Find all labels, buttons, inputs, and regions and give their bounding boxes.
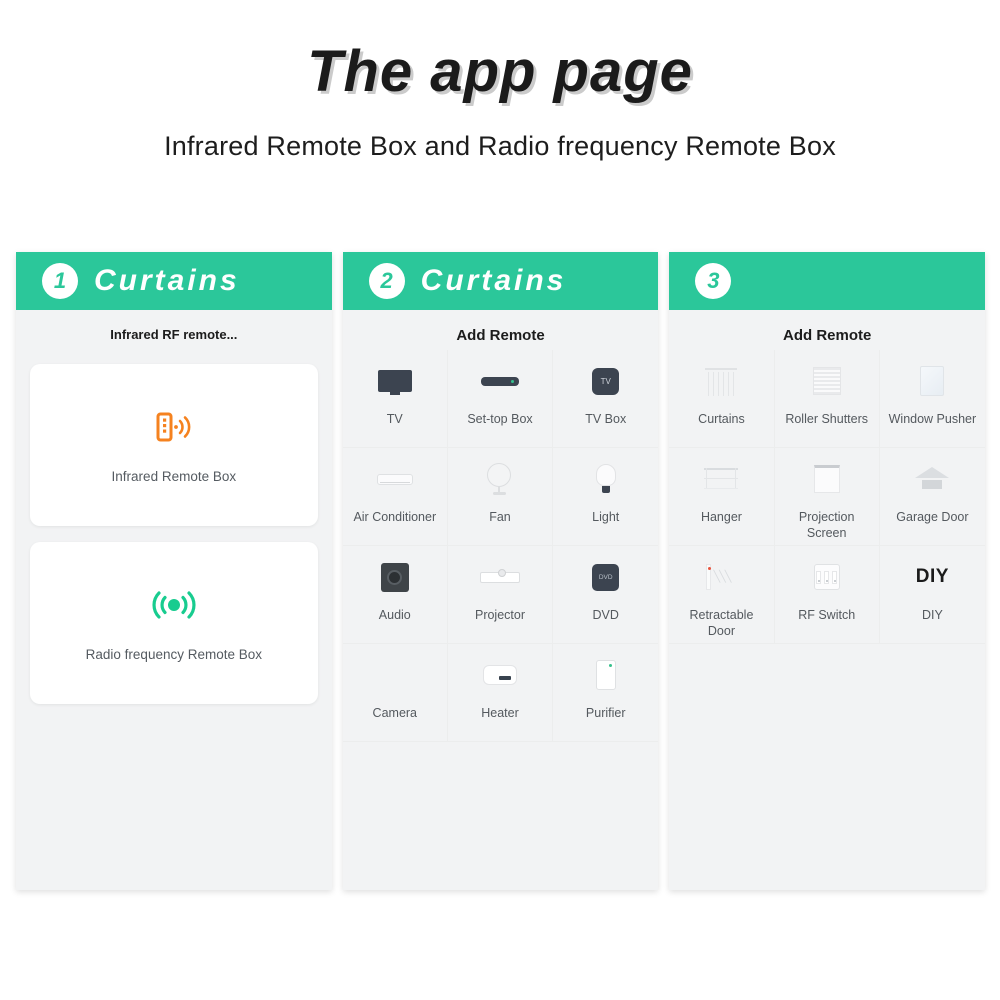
panel-step-2: 2 Curtains Add Remote TV Set-top Box TV … <box>343 252 659 890</box>
device-tile-diy[interactable]: DIY DIY <box>880 546 985 644</box>
device-label: Hanger <box>701 510 742 526</box>
device-label: Audio <box>379 608 411 624</box>
diy-icon: DIY <box>916 556 949 598</box>
tv-icon <box>378 360 412 402</box>
device-tile-tv[interactable]: TV <box>343 350 448 448</box>
device-tile-tv-box[interactable]: TV TV Box <box>553 350 658 448</box>
radio-frequency-remote-box-card[interactable]: Radio frequency Remote Box <box>30 542 318 704</box>
panel-1-header: 1 Curtains <box>16 252 332 310</box>
projection-screen-icon <box>814 458 840 500</box>
step-badge-3: 3 <box>695 263 731 299</box>
page-title: The app page <box>0 42 1000 103</box>
set-top-box-icon <box>481 360 519 402</box>
device-label: Light <box>592 510 619 526</box>
light-bulb-icon <box>596 458 616 500</box>
device-tile-hanger[interactable]: Hanger <box>669 448 774 546</box>
panel-1-title: Curtains <box>94 264 240 298</box>
device-tile-rf-switch[interactable]: RF Switch <box>775 546 880 644</box>
device-grid-rf: Curtains Roller Shutters Window Pusher H… <box>669 350 985 644</box>
device-label: TV <box>387 412 403 428</box>
device-label: DVD <box>593 608 619 624</box>
device-label: Camera <box>373 706 417 722</box>
device-label: Purifier <box>586 706 626 722</box>
panel-2-header: 2 Curtains <box>343 252 659 310</box>
device-tile-air-conditioner[interactable]: Air Conditioner <box>343 448 448 546</box>
panel-step-1: 1 Curtains Infrared RF remote... <box>16 252 332 890</box>
roller-shutters-icon <box>813 360 841 402</box>
page-header: The app page Infrared Remote Box and Rad… <box>0 0 1000 162</box>
device-label: Projection Screen <box>781 510 873 541</box>
panel-2-subtitle: Add Remote <box>343 310 659 350</box>
device-tile-light[interactable]: Light <box>553 448 658 546</box>
tv-box-icon: TV <box>592 360 619 402</box>
fan-icon <box>487 458 513 500</box>
device-tile-purifier[interactable]: Purifier <box>553 644 658 742</box>
panel-3-header: 3 <box>669 252 985 310</box>
air-conditioner-icon <box>377 458 413 500</box>
panels-row: 1 Curtains Infrared RF remote... <box>16 252 985 890</box>
device-label: Roller Shutters <box>785 412 868 428</box>
remote-card-list: Infrared Remote Box Radio frequency Remo… <box>16 348 332 704</box>
panel-step-3: 3 Add Remote Curtains Roller Shutters <box>669 252 985 890</box>
device-label: Projector <box>475 608 525 624</box>
page-subtitle: Infrared Remote Box and Radio frequency … <box>0 131 1000 162</box>
device-label: Set-top Box <box>467 412 532 428</box>
radio-frequency-icon <box>151 585 197 625</box>
device-label: Curtains <box>698 412 745 428</box>
device-label: DIY <box>922 608 943 624</box>
window-pusher-icon <box>920 360 944 402</box>
infrared-remote-box-card[interactable]: Infrared Remote Box <box>30 364 318 526</box>
panel-1-subtitle: Infrared RF remote... <box>16 310 332 348</box>
device-grid-ir: TV Set-top Box TV TV Box Air Conditioner <box>343 350 659 742</box>
device-label: RF Switch <box>798 608 855 624</box>
curtains-icon <box>705 360 737 402</box>
panel-2-title: Curtains <box>421 264 567 298</box>
device-tile-retractable-door[interactable]: ╲╲╲ Retractable Door <box>669 546 774 644</box>
device-tile-curtains[interactable]: Curtains <box>669 350 774 448</box>
app-page: The app page Infrared Remote Box and Rad… <box>0 0 1000 1000</box>
projector-icon <box>480 556 520 598</box>
step-badge-2: 2 <box>369 263 405 299</box>
panel-3-subtitle: Add Remote <box>669 310 985 350</box>
device-tile-garage-door[interactable]: Garage Door <box>880 448 985 546</box>
device-label: Retractable Door <box>675 608 767 639</box>
device-tile-set-top-box[interactable]: Set-top Box <box>448 350 553 448</box>
retractable-door-icon: ╲╲╲ <box>704 556 738 598</box>
device-tile-roller-shutters[interactable]: Roller Shutters <box>775 350 880 448</box>
step-badge-1: 1 <box>42 263 78 299</box>
device-tile-dvd[interactable]: DVD DVD <box>553 546 658 644</box>
radio-frequency-remote-box-label: Radio frequency Remote Box <box>86 647 262 662</box>
device-tile-audio[interactable]: Audio <box>343 546 448 644</box>
device-tile-projection-screen[interactable]: Projection Screen <box>775 448 880 546</box>
purifier-icon <box>596 654 616 696</box>
device-tile-heater[interactable]: Heater <box>448 644 553 742</box>
device-tile-window-pusher[interactable]: Window Pusher <box>880 350 985 448</box>
infrared-remote-box-label: Infrared Remote Box <box>112 469 237 484</box>
device-label: Heater <box>481 706 519 722</box>
infrared-remote-icon <box>156 407 192 447</box>
rf-switch-icon <box>814 556 840 598</box>
device-label: Air Conditioner <box>353 510 436 526</box>
device-tile-fan[interactable]: Fan <box>448 448 553 546</box>
device-label: Garage Door <box>896 510 968 526</box>
hanger-icon <box>704 458 738 500</box>
device-tile-projector[interactable]: Projector <box>448 546 553 644</box>
garage-door-icon <box>915 458 949 500</box>
heater-icon <box>483 654 517 696</box>
device-label: Window Pusher <box>889 412 977 428</box>
device-tile-camera[interactable]: Camera <box>343 644 448 742</box>
dvd-icon: DVD <box>592 556 619 598</box>
device-label: TV Box <box>585 412 626 428</box>
audio-speaker-icon <box>381 556 409 598</box>
device-label: Fan <box>489 510 511 526</box>
